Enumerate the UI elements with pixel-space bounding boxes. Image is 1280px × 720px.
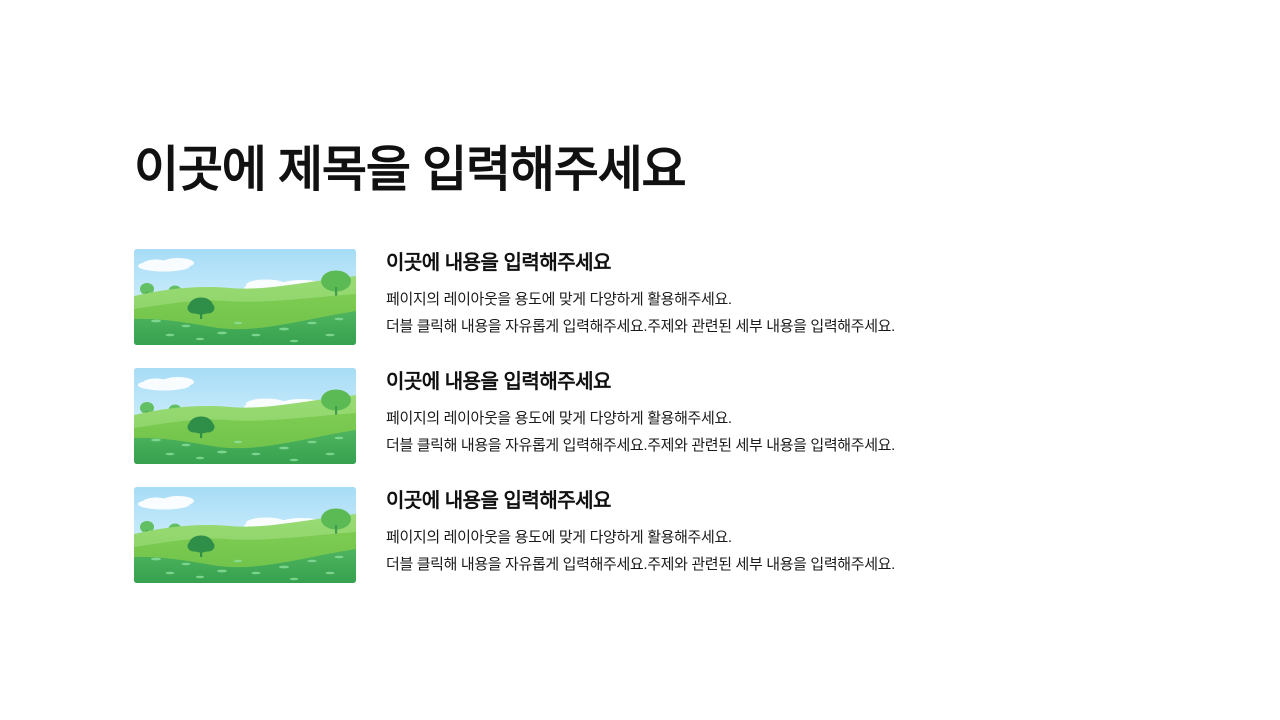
row-text-block: 이곳에 내용을 입력해주세요 페이지의 레이아웃을 용도에 맞게 다양하게 활용… xyxy=(356,249,1134,340)
list-item[interactable]: 이곳에 내용을 입력해주세요 페이지의 레이아웃을 용도에 맞게 다양하게 활용… xyxy=(134,368,1134,464)
row-heading[interactable]: 이곳에 내용을 입력해주세요 xyxy=(386,370,1134,395)
row-text-block: 이곳에 내용을 입력해주세요 페이지의 레이아웃을 용도에 맞게 다양하게 활용… xyxy=(356,487,1134,578)
green-hills-illustration[interactable] xyxy=(134,368,356,464)
hills-scene-icon xyxy=(134,249,356,345)
green-hills-illustration[interactable] xyxy=(134,487,356,583)
row-text-block: 이곳에 내용을 입력해주세요 페이지의 레이아웃을 용도에 맞게 다양하게 활용… xyxy=(356,368,1134,459)
content-list: 이곳에 내용을 입력해주세요 페이지의 레이아웃을 용도에 맞게 다양하게 활용… xyxy=(134,249,1134,606)
row-body-line-1[interactable]: 페이지의 레이아웃을 용도에 맞게 다양하게 활용해주세요. xyxy=(386,524,1134,551)
row-body-line-2[interactable]: 더블 클릭해 내용을 자유롭게 입력해주세요.주제와 관련된 세부 내용을 입력… xyxy=(386,313,1134,340)
row-body-line-1[interactable]: 페이지의 레이아웃을 용도에 맞게 다양하게 활용해주세요. xyxy=(386,286,1134,313)
row-body-line-2[interactable]: 더블 클릭해 내용을 자유롭게 입력해주세요.주제와 관련된 세부 내용을 입력… xyxy=(386,551,1134,578)
list-item[interactable]: 이곳에 내용을 입력해주세요 페이지의 레이아웃을 용도에 맞게 다양하게 활용… xyxy=(134,487,1134,583)
page-title[interactable]: 이곳에 제목을 입력해주세요 xyxy=(134,143,685,198)
row-heading[interactable]: 이곳에 내용을 입력해주세요 xyxy=(386,251,1134,276)
green-hills-illustration[interactable] xyxy=(134,249,356,345)
row-body-line-1[interactable]: 페이지의 레이아웃을 용도에 맞게 다양하게 활용해주세요. xyxy=(386,405,1134,432)
hills-scene-icon xyxy=(134,487,356,583)
row-body-line-2[interactable]: 더블 클릭해 내용을 자유롭게 입력해주세요.주제와 관련된 세부 내용을 입력… xyxy=(386,432,1134,459)
row-heading[interactable]: 이곳에 내용을 입력해주세요 xyxy=(386,489,1134,514)
list-item[interactable]: 이곳에 내용을 입력해주세요 페이지의 레이아웃을 용도에 맞게 다양하게 활용… xyxy=(134,249,1134,345)
hills-scene-icon xyxy=(134,368,356,464)
slide-canvas: 이곳에 제목을 입력해주세요 xyxy=(0,0,1280,720)
